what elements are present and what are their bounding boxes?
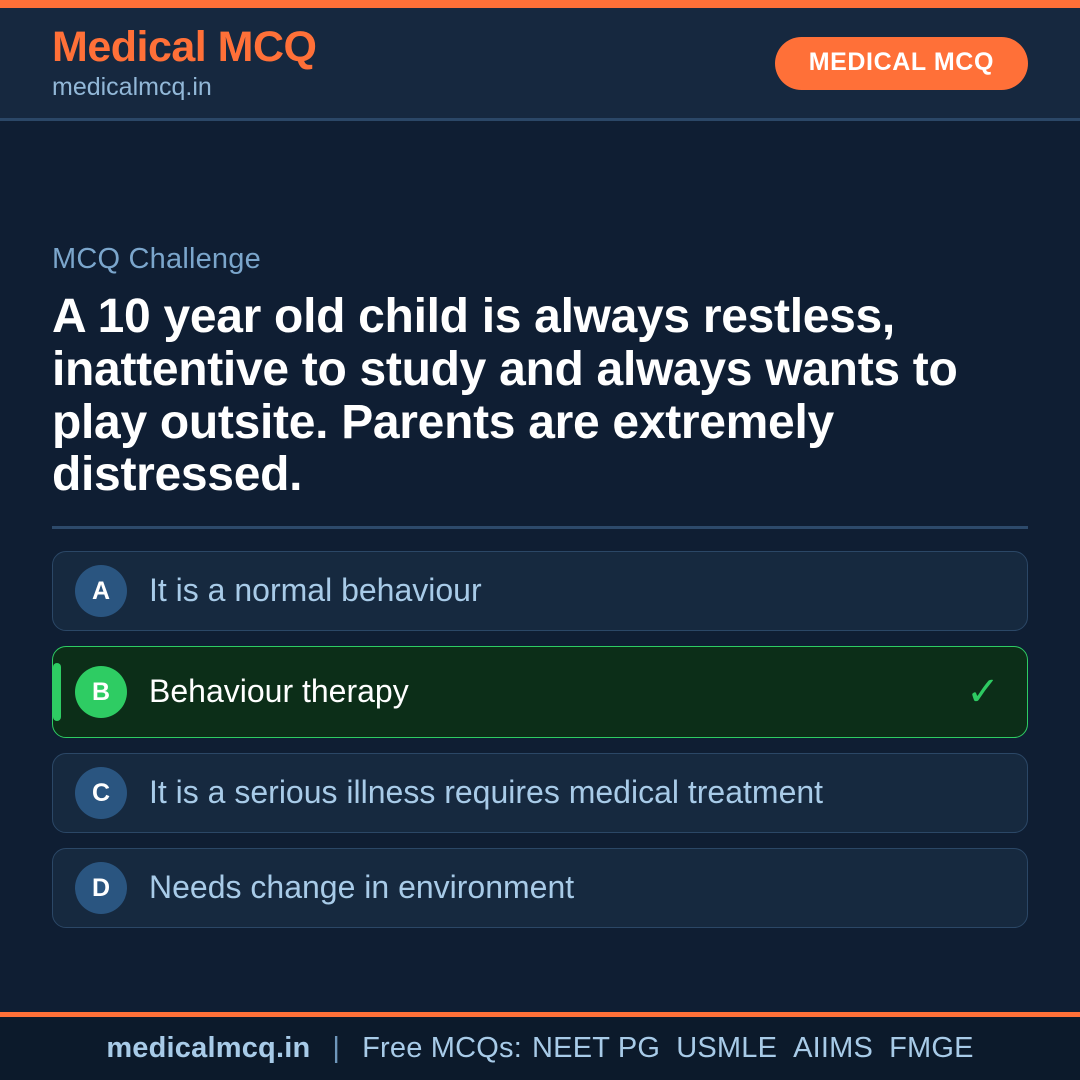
mcq-card: Medical MCQ medicalmcq.in MEDICAL MCQ MC… <box>0 0 1080 1080</box>
option-label: Behaviour therapy <box>149 674 961 710</box>
footer-text: medicalmcq.in | Free MCQs: NEET PG USMLE… <box>106 1032 973 1065</box>
brand-title: Medical MCQ <box>52 26 317 69</box>
footer-exam-usmle: USMLE <box>676 1032 777 1065</box>
option-letter-badge: B <box>75 666 127 718</box>
option-letter-badge: A <box>75 565 127 617</box>
option-label: It is a serious illness requires medical… <box>149 775 961 811</box>
correct-accent-bar <box>53 663 61 721</box>
option-c[interactable]: C It is a serious illness requires medic… <box>52 753 1028 833</box>
main-content: MCQ Challenge A 10 year old child is alw… <box>0 121 1080 1012</box>
option-letter-badge: C <box>75 767 127 819</box>
option-d[interactable]: D Needs change in environment <box>52 848 1028 928</box>
footer-exam-neet-pg: NEET PG <box>532 1032 660 1065</box>
footer-site: medicalmcq.in <box>106 1032 310 1065</box>
kicker-label: MCQ Challenge <box>52 245 1028 274</box>
brand-url: medicalmcq.in <box>52 75 317 100</box>
footer-exam-aiims: AIIMS <box>793 1032 873 1065</box>
option-a[interactable]: A It is a normal behaviour <box>52 551 1028 631</box>
header: Medical MCQ medicalmcq.in MEDICAL MCQ <box>0 8 1080 121</box>
top-accent-bar <box>0 0 1080 8</box>
brand: Medical MCQ medicalmcq.in <box>52 26 317 100</box>
question-text: A 10 year old child is always restless, … <box>52 291 1028 502</box>
option-b[interactable]: B Behaviour therapy ✓ <box>52 646 1028 738</box>
footer-label: Free MCQs: <box>362 1032 522 1065</box>
check-icon: ✓ <box>961 672 1005 712</box>
option-letter-badge: D <box>75 862 127 914</box>
question-divider <box>52 526 1028 529</box>
header-badge: MEDICAL MCQ <box>775 37 1028 90</box>
options-list: A It is a normal behaviour B Behaviour t… <box>52 551 1028 928</box>
footer-exam-fmge: FMGE <box>889 1032 974 1065</box>
option-label: It is a normal behaviour <box>149 573 961 609</box>
footer-separator: | <box>332 1032 340 1065</box>
footer: medicalmcq.in | Free MCQs: NEET PG USMLE… <box>0 1012 1080 1080</box>
option-label: Needs change in environment <box>149 870 961 906</box>
